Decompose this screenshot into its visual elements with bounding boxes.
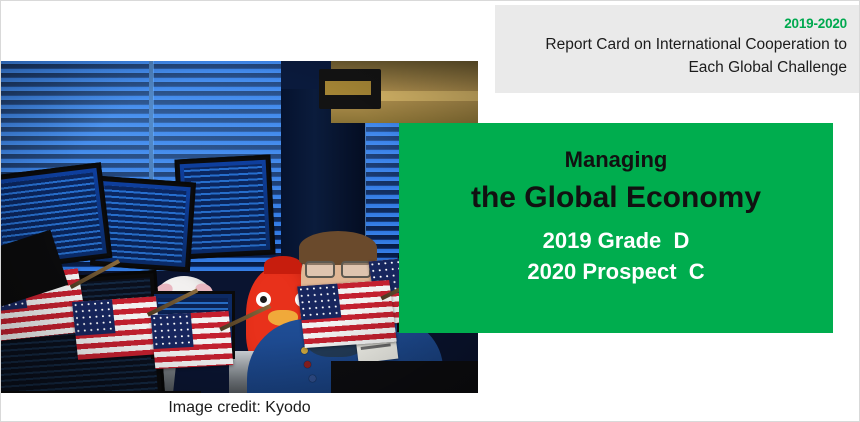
grade-2019: 2019 Grade D bbox=[399, 225, 833, 256]
report-title-line-2: Each Global Challenge bbox=[505, 56, 847, 79]
report-title-line-1: Report Card on International Cooperation… bbox=[505, 33, 847, 56]
report-years: 2019-2020 bbox=[505, 15, 847, 33]
grade-callout-box: Managing the Global Economy 2019 Grade D… bbox=[399, 123, 833, 333]
grade-2020: 2020 Prospect C bbox=[399, 256, 833, 287]
callout-topic: the Global Economy bbox=[399, 177, 833, 219]
callout-eyebrow: Managing bbox=[399, 145, 833, 175]
image-credit-caption: Image credit: Kyodo bbox=[1, 393, 478, 420]
slide-canvas: 2019-2020 Report Card on International C… bbox=[0, 0, 860, 422]
report-header-panel: 2019-2020 Report Card on International C… bbox=[495, 5, 859, 93]
